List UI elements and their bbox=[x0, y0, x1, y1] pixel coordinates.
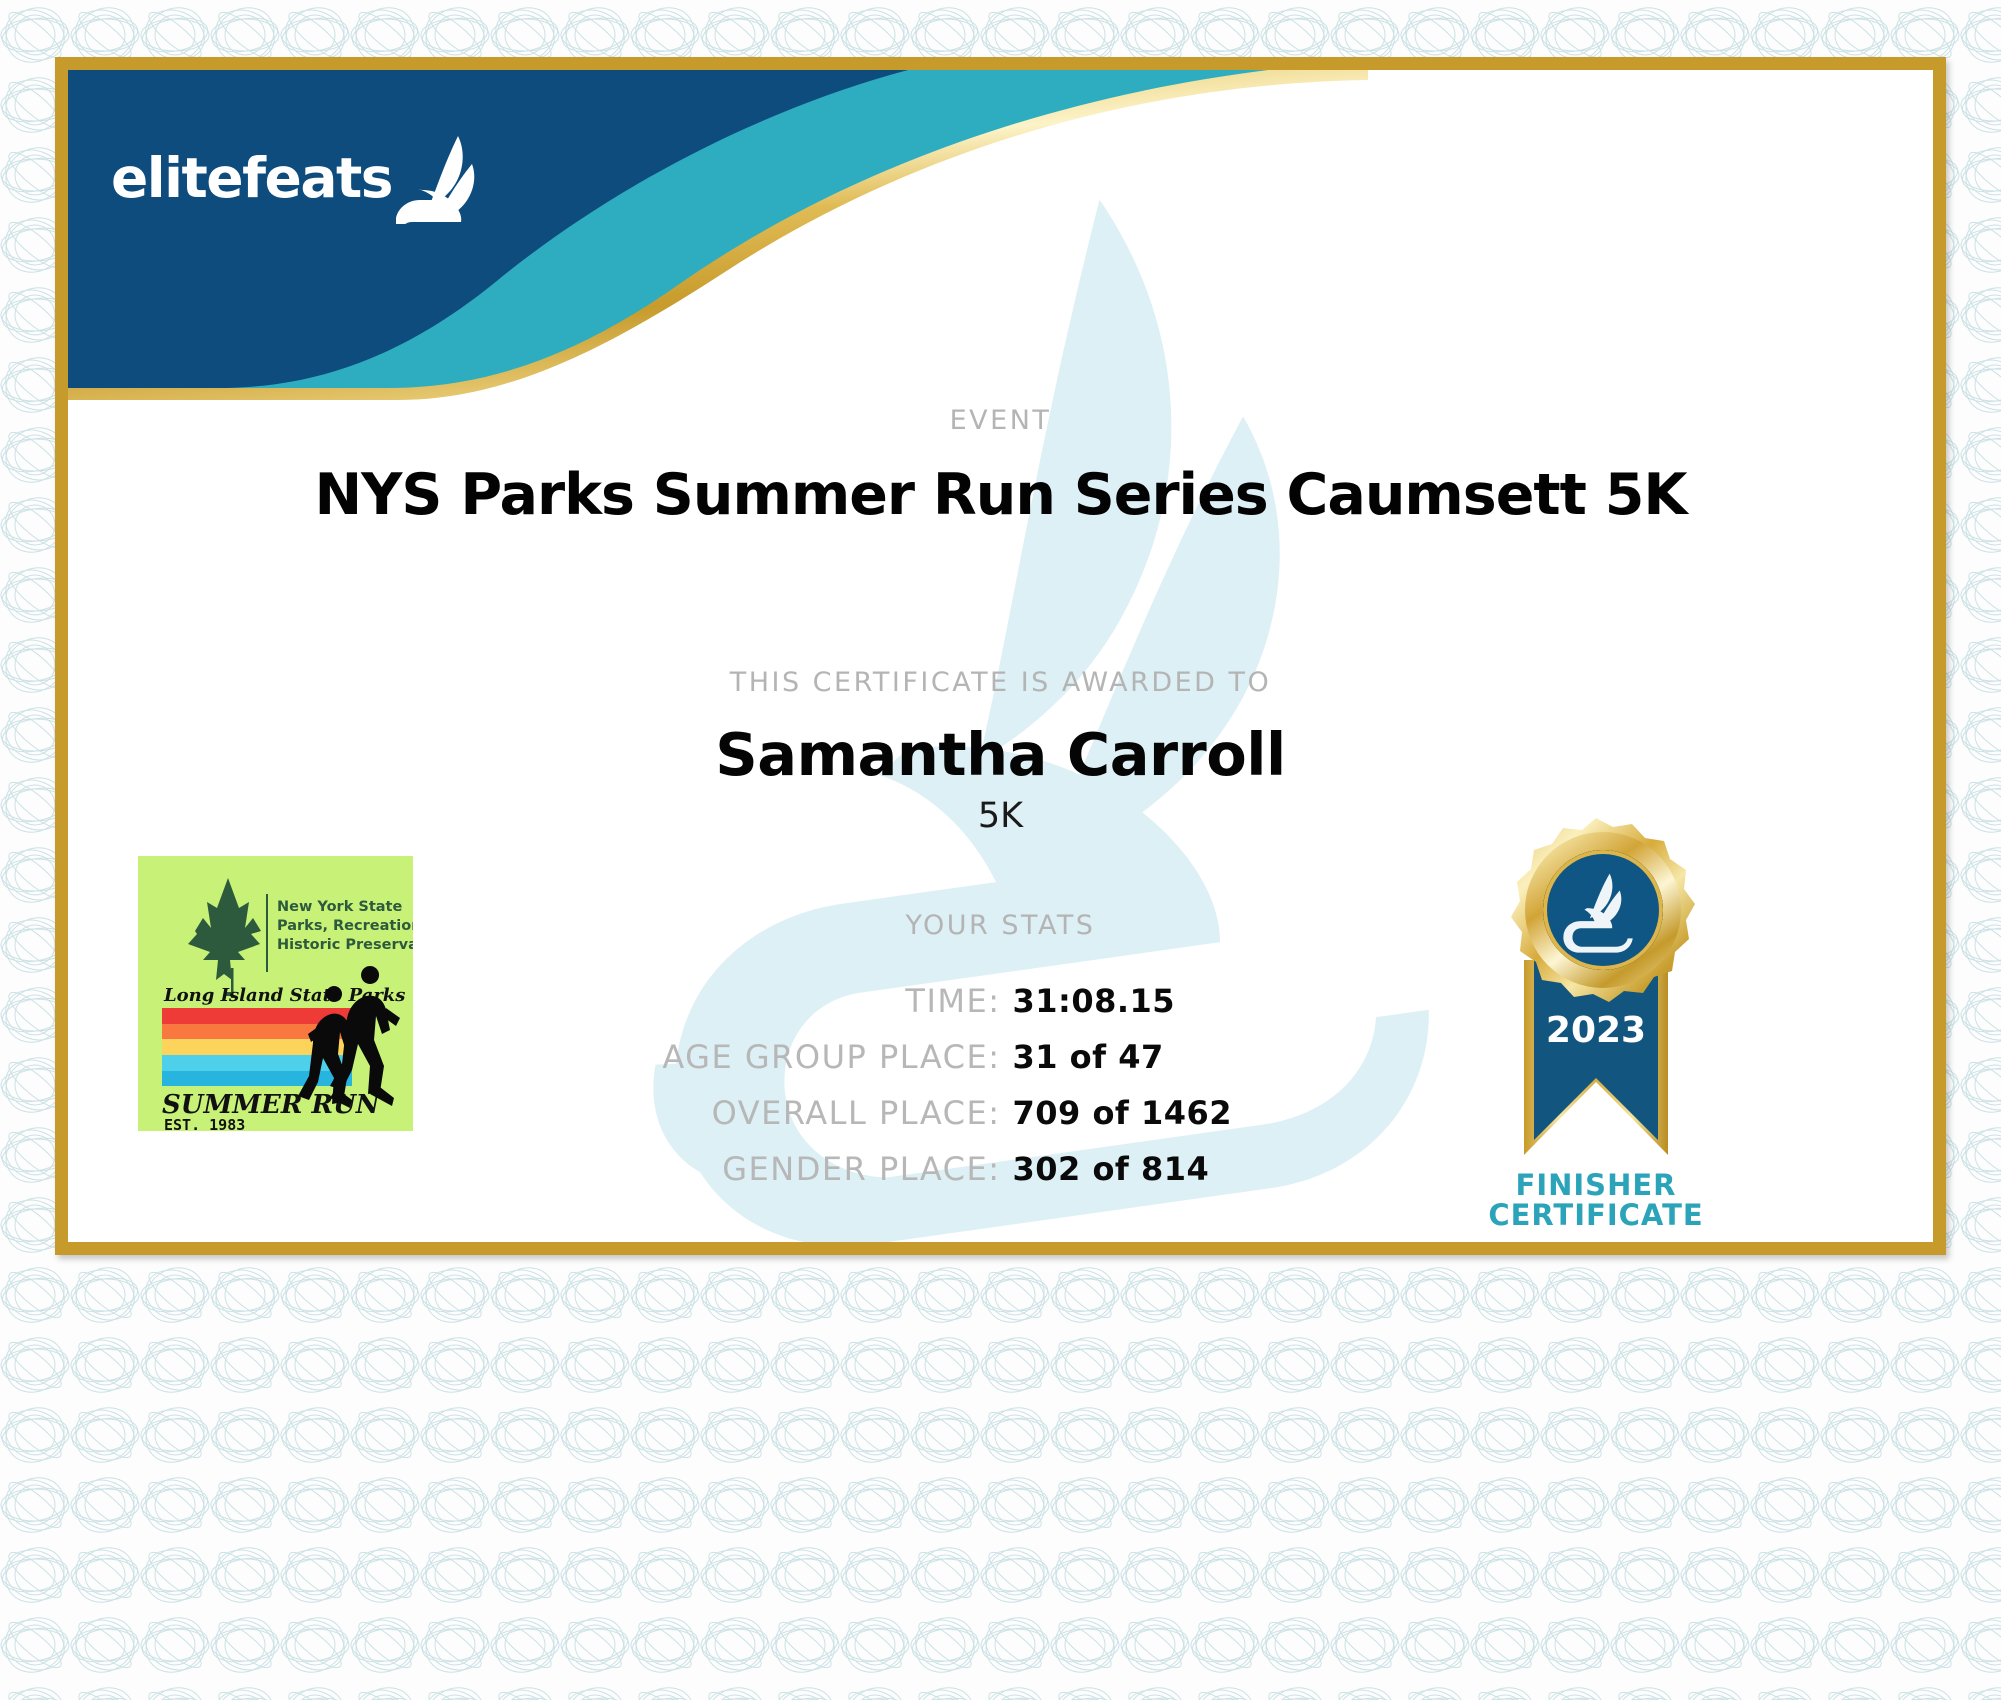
stat-label: TIME: bbox=[481, 982, 1001, 1020]
parks-established: EST. 1983 bbox=[164, 1116, 245, 1131]
stat-label: OVERALL PLACE: bbox=[481, 1094, 1001, 1132]
certificate-card: elitefeats EVENT NYS Parks Summer Run Se… bbox=[55, 57, 1946, 1255]
nys-parks-logo: New York State Parks, Recreation and His… bbox=[138, 856, 413, 1131]
finisher-caption: FINISHER CERTIFICATE bbox=[1436, 1170, 1756, 1231]
finisher-caption-line2: CERTIFICATE bbox=[1436, 1200, 1756, 1230]
medal-year: 2023 bbox=[1546, 1010, 1646, 1051]
stat-value: 31 of 47 bbox=[1001, 1038, 1521, 1076]
certificate-page: elitefeats EVENT NYS Parks Summer Run Se… bbox=[0, 0, 2001, 1700]
parks-agency-line3: Historic Preservation bbox=[277, 937, 413, 953]
finisher-caption-line1: FINISHER bbox=[1436, 1170, 1756, 1200]
header-swoosh-art bbox=[68, 70, 1368, 400]
parks-agency-line1: New York State bbox=[277, 899, 402, 915]
winged-foot-icon bbox=[396, 132, 482, 224]
stat-value: 709 of 1462 bbox=[1001, 1094, 1521, 1132]
brand-logo: elitefeats bbox=[111, 132, 482, 224]
finisher-medal: 2023 bbox=[1466, 810, 1726, 1230]
recipient-name: Samantha Carroll bbox=[68, 720, 1933, 789]
awarded-to-kicker: THIS CERTIFICATE IS AWARDED TO bbox=[68, 667, 1933, 698]
event-title: NYS Parks Summer Run Series Caumsett 5K bbox=[68, 462, 1933, 528]
parks-agency-line2: Parks, Recreation and bbox=[277, 918, 413, 934]
stat-label: GENDER PLACE: bbox=[481, 1150, 1001, 1188]
brand-wordmark: elitefeats bbox=[111, 151, 392, 206]
stat-label: AGE GROUP PLACE: bbox=[481, 1038, 1001, 1076]
event-kicker: EVENT bbox=[68, 405, 1933, 436]
stat-value: 31:08.15 bbox=[1001, 982, 1521, 1020]
